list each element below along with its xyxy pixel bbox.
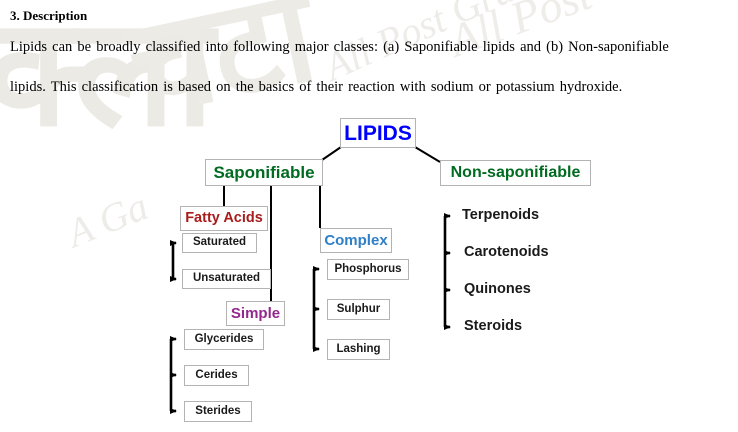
node-phosphorus-label: Phosphorus [334, 264, 401, 276]
node-saponifiable[interactable]: Saponifiable [205, 159, 323, 186]
lipid-classification-diagram: LIPIDS Saponifiable Non-saponifiable Fat… [0, 0, 738, 432]
node-lipids-label: LIPIDS [344, 123, 412, 144]
node-cerides[interactable]: Cerides [184, 365, 249, 386]
node-sulphur-label: Sulphur [337, 304, 380, 316]
node-cerides-label: Cerides [195, 370, 237, 382]
node-carotenoids[interactable]: Carotenoids [464, 245, 549, 260]
node-lashing-label: Lashing [336, 344, 380, 356]
node-saturated-label: Saturated [193, 237, 246, 249]
node-fatty-acids[interactable]: Fatty Acids [180, 206, 268, 231]
node-simple-label: Simple [231, 306, 280, 321]
node-quinones-label: Quinones [464, 281, 531, 297]
node-glycerides-label: Glycerides [195, 334, 254, 346]
node-lashing[interactable]: Lashing [327, 339, 390, 360]
node-unsaturated[interactable]: Unsaturated [182, 269, 271, 289]
node-terpenoids-label: Terpenoids [462, 207, 539, 223]
node-quinones[interactable]: Quinones [464, 282, 531, 297]
node-simple[interactable]: Simple [226, 301, 285, 326]
node-glycerides[interactable]: Glycerides [184, 329, 264, 350]
node-fatty-acids-label: Fatty Acids [185, 211, 263, 226]
node-saturated[interactable]: Saturated [182, 233, 257, 253]
node-steroids-label: Steroids [464, 318, 522, 334]
node-sulphur[interactable]: Sulphur [327, 299, 390, 320]
node-terpenoids[interactable]: Terpenoids [462, 208, 539, 223]
node-sterides-label: Sterides [195, 406, 240, 418]
node-lipids[interactable]: LIPIDS [340, 118, 416, 148]
page-root: क्ला चटो All Post Gra A Ga All Post Gra … [0, 0, 738, 432]
node-unsaturated-label: Unsaturated [193, 273, 260, 285]
node-carotenoids-label: Carotenoids [464, 244, 549, 260]
node-non-saponifiable-label: Non-saponifiable [451, 165, 581, 181]
node-steroids[interactable]: Steroids [464, 319, 522, 334]
node-phosphorus[interactable]: Phosphorus [327, 259, 409, 280]
diagram-connectors [0, 0, 738, 432]
node-sterides[interactable]: Sterides [184, 401, 252, 422]
node-complex-label: Complex [324, 233, 387, 248]
node-saponifiable-label: Saponifiable [213, 164, 314, 181]
node-complex[interactable]: Complex [320, 228, 392, 253]
node-non-saponifiable[interactable]: Non-saponifiable [440, 160, 591, 186]
